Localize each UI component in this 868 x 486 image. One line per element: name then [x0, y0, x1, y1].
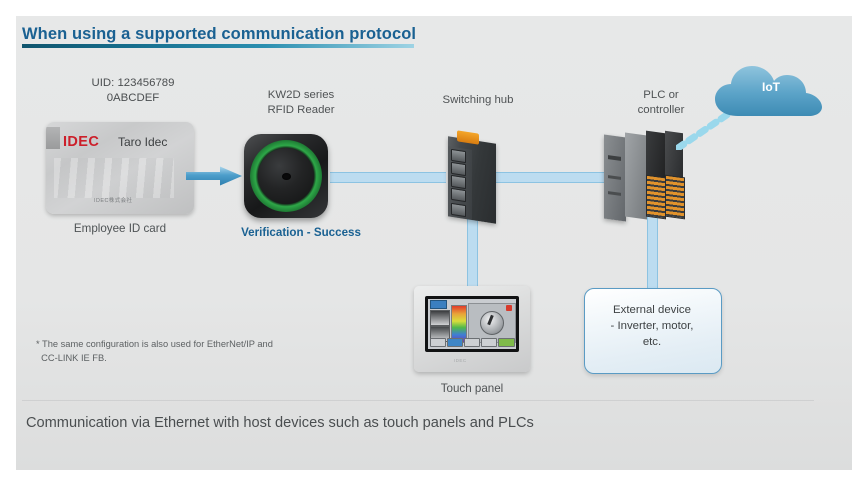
- screen-button-3: [464, 338, 480, 347]
- card-uid-text: UID: 123456789 0ABCDEF: [48, 76, 218, 106]
- screen-button-2: [447, 338, 463, 347]
- touch-panel-screen: [428, 299, 516, 349]
- footnote-text: * The same configuration is also used fo…: [36, 338, 273, 365]
- touch-panel-brand-mark: IDEC: [454, 358, 467, 363]
- plc-terminal-block-2: [665, 175, 685, 220]
- diagram-canvas: When using a supported communication pro…: [0, 0, 868, 486]
- caption-divider: [22, 400, 814, 401]
- card-chip-icon: [46, 127, 60, 149]
- hub-port-2: [451, 162, 466, 176]
- card-holder-name: Taro Idec: [118, 135, 167, 149]
- flow-arrow-icon: [186, 166, 242, 186]
- screen-button-4: [481, 338, 497, 347]
- employee-id-card-label: Employee ID card: [46, 222, 194, 236]
- ethernet-line-reader-to-hub: [330, 172, 446, 183]
- plc-module-2: [625, 132, 647, 219]
- rfid-reader-device: [244, 134, 328, 218]
- page-title: When using a supported communication pro…: [22, 25, 416, 44]
- idec-logo: IDEC: [63, 134, 99, 150]
- hub-port-5: [451, 203, 466, 217]
- card-footer-mark: IDEC株式会社: [94, 196, 132, 204]
- screen-button-1: [430, 338, 446, 347]
- rfid-reader-label: KW2D series RFID Reader: [226, 88, 376, 117]
- plc-module-3: [646, 131, 666, 182]
- ethernet-line-hub-to-plc: [496, 172, 608, 183]
- hub-port-3: [451, 175, 466, 189]
- touch-panel-label: Touch panel: [406, 382, 538, 396]
- bottom-caption: Communication via Ethernet with host dev…: [26, 415, 534, 431]
- screen-thumbnail-1: [430, 310, 450, 326]
- hub-port-1: [451, 149, 466, 163]
- card-hologram-pattern: [54, 158, 174, 198]
- rfid-sensor-icon: [282, 173, 291, 180]
- employee-id-card: IDEC Taro Idec IDEC株式会社: [46, 122, 194, 214]
- screen-button-5: [498, 338, 515, 347]
- hub-port-4: [451, 188, 466, 202]
- title-underline-rule: [22, 44, 414, 48]
- iot-cloud-label: IoT: [712, 80, 830, 94]
- touch-panel-bezel: [425, 296, 519, 352]
- touch-panel-device: IDEC: [414, 286, 530, 372]
- external-device-text: External device - Inverter, motor, etc.: [584, 302, 720, 350]
- verification-status-text: Verification - Success: [226, 226, 376, 240]
- switching-hub-label: Switching hub: [408, 93, 548, 107]
- plc-terminal-block-1: [646, 175, 666, 220]
- switching-hub-device: [438, 130, 504, 222]
